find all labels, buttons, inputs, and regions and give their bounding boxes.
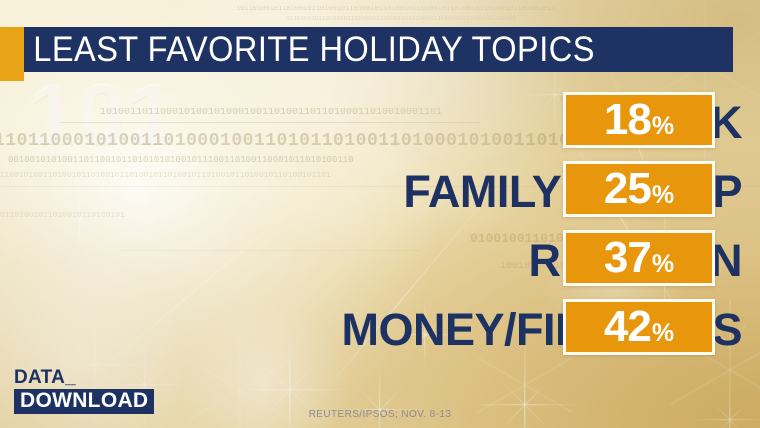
percent-badge: 25 % — [563, 161, 715, 217]
percent-symbol: % — [652, 114, 674, 139]
percent-symbol: % — [652, 183, 674, 208]
percent-symbol: % — [652, 321, 674, 346]
source-attribution: REUTERS/IPSOS; NOV. 8-13 — [0, 409, 760, 420]
result-row: MONEY/FINANCES 42 % — [0, 299, 760, 361]
result-row: FAMILY GOSSIP 25 % — [0, 161, 760, 223]
title-accent-bar — [0, 27, 24, 81]
background-binary-stream: 1011010010110100101101001011010010110100… — [236, 6, 656, 13]
background-binary-stream: 0110100101101001011010010110100101101001… — [286, 16, 616, 22]
sparkle-icon — [690, 380, 760, 428]
infographic-canvas: 101 101101001011010010110100101101001011… — [0, 0, 760, 428]
percent-value: 37 — [604, 236, 651, 280]
result-row: RELIGION 37 % — [0, 230, 760, 292]
brand-logo-line1: DATA_ — [14, 368, 164, 387]
title-bar: LEAST FAVORITE HOLIDAY TOPICS — [24, 27, 733, 72]
percent-badge: 37 % — [563, 230, 715, 286]
percent-badge: 18 % — [563, 92, 715, 148]
percent-value: 25 — [604, 167, 651, 211]
page-title: LEAST FAVORITE HOLIDAY TOPICS — [24, 32, 595, 67]
percent-value: 18 — [604, 98, 651, 142]
percent-value: 42 — [604, 305, 651, 349]
result-row: WORK 18 % — [0, 92, 760, 154]
results-list: WORK 18 % FAMILY GOSSIP 25 % RELIGION — [0, 92, 760, 368]
percent-symbol: % — [652, 252, 674, 277]
percent-badge: 42 % — [563, 299, 715, 355]
brand-logo: DATA_ DOWNLOAD — [14, 368, 164, 414]
